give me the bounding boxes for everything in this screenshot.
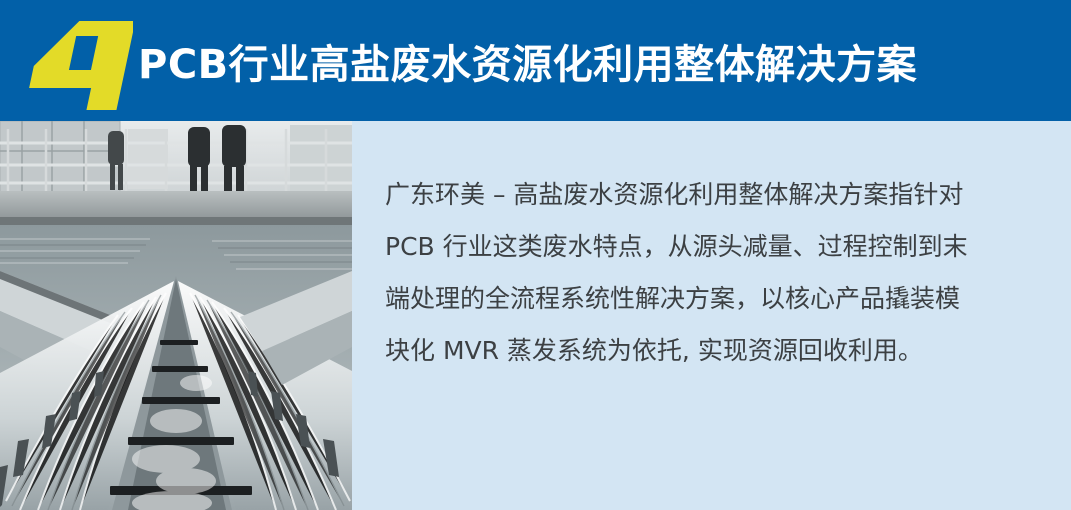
body-line: 端处理的全流程系统性解决方案，以核心产品撬装模 (385, 273, 1030, 325)
body-line: PCB 行业这类废水特点，从源头减量、过程控制到末 (385, 221, 1030, 273)
wastewater-treatment-clarifier-photo (0, 121, 352, 510)
solution-banner-card: PCB行业高盐废水资源化利用整体解决方案 (0, 0, 1071, 510)
body-line: 广东环美 – 高盐废水资源化利用整体解决方案指针对 (385, 169, 1030, 221)
header-bar: PCB行业高盐废水资源化利用整体解决方案 (0, 0, 1071, 121)
section-number-4 (28, 18, 133, 110)
page-title: PCB行业高盐废水资源化利用整体解决方案 (138, 0, 917, 121)
body-copy: 广东环美 – 高盐废水资源化利用整体解决方案指针对 PCB 行业这类废水特点，从… (385, 169, 1030, 377)
description-panel: 广东环美 – 高盐废水资源化利用整体解决方案指针对 PCB 行业这类废水特点，从… (352, 121, 1071, 510)
body-line: 块化 MVR 蒸发系统为依托, 实现资源回收利用。 (385, 325, 1030, 377)
